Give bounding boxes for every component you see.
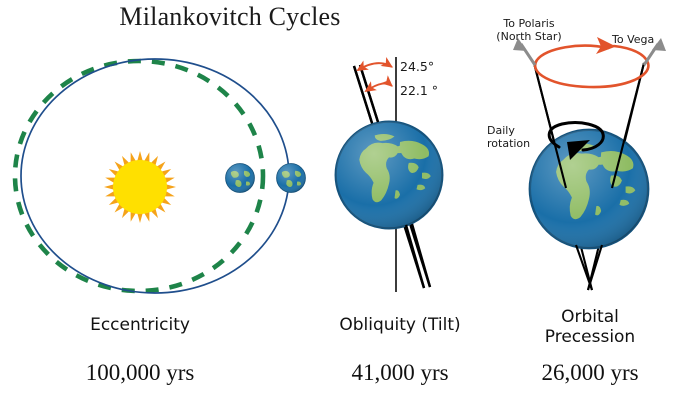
panel-label-obliquity: Obliquity (Tilt) (315, 315, 485, 335)
panel-label-precession: Orbital Precession (510, 307, 670, 347)
panel-label-eccentricity: Eccentricity (35, 315, 245, 335)
polaris-label: To Polaris (North Star) (481, 18, 577, 44)
panel-period-precession: 26,000 yrs (510, 360, 670, 386)
panel-precession-graphic (513, 37, 666, 290)
angle-arrow-221 (366, 83, 392, 91)
earth-on-current-orbit (277, 164, 306, 193)
obliquity-angle-label-min: 22.1 ° (400, 84, 438, 99)
daily-rotation-label: Daily rotation (487, 125, 555, 151)
cone-line-right-lower (588, 245, 602, 290)
angle-arrow-245 (358, 63, 392, 70)
daily-rotation-label-line1: Daily (487, 125, 555, 138)
sun-icon (104, 151, 176, 223)
polaris-label-line1: To Polaris (481, 18, 577, 31)
panel-period-eccentricity: 100,000 yrs (35, 360, 245, 386)
earth-obliquity (336, 122, 443, 229)
vega-label-line1: To Vega (612, 34, 678, 47)
precession-circle-arrow-icon (535, 46, 648, 87)
panel-period-obliquity: 41,000 yrs (315, 360, 485, 386)
diagram-canvas: Milankovitch Cycles (0, 0, 682, 406)
panel-label-precession-line1: Orbital (510, 307, 670, 327)
earth-on-eccentric-orbit (226, 164, 255, 193)
obliquity-angle-label-max: 24.5° (400, 60, 434, 75)
panel-label-precession-line2: Precession (510, 327, 670, 347)
daily-rotation-label-line2: rotation (487, 138, 555, 151)
vega-label: To Vega (612, 34, 678, 47)
panel-eccentricity-graphic (15, 59, 305, 293)
polaris-label-line2: (North Star) (481, 31, 577, 44)
